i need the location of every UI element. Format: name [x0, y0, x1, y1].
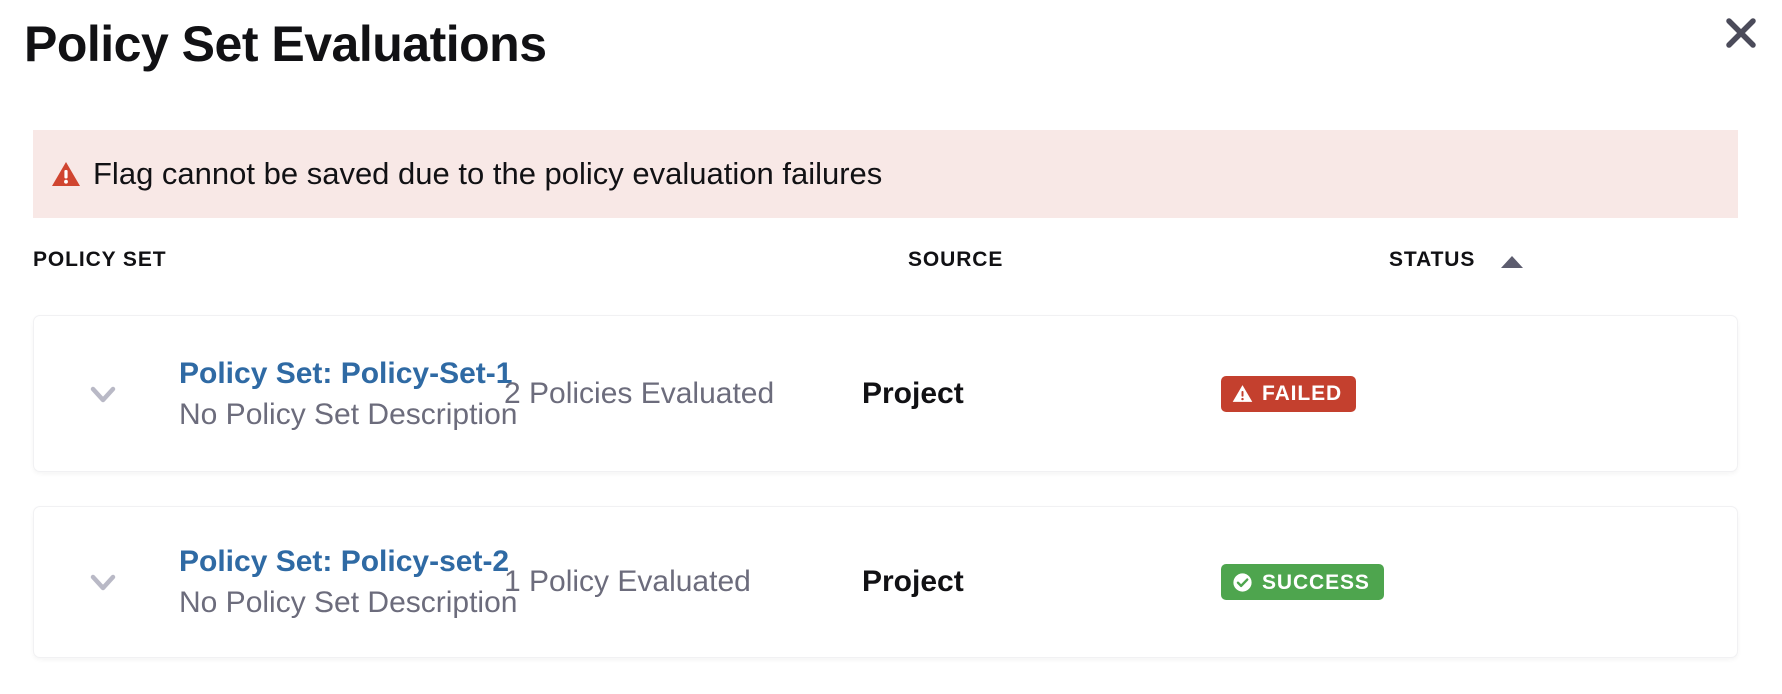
chevron-down-icon[interactable]: [80, 371, 126, 417]
alert-message: Flag cannot be saved due to the policy e…: [93, 157, 882, 191]
close-icon: [1722, 14, 1760, 52]
check-circle-icon: [1232, 572, 1253, 593]
policies-evaluated-count: 2 Policies Evaluated: [504, 374, 774, 414]
policy-set-description: No Policy Set Description: [179, 394, 509, 435]
status-badge: SUCCESS: [1221, 564, 1384, 600]
policy-set-description: No Policy Set Description: [179, 582, 509, 623]
sort-ascending-icon[interactable]: [1501, 256, 1523, 268]
policy-set-status: SUCCESS: [1221, 564, 1384, 600]
table-row[interactable]: Policy Set: Policy-set-2 No Policy Set D…: [33, 506, 1738, 658]
policy-set-link[interactable]: Policy Set: Policy-set-2: [179, 541, 509, 582]
policy-set-evaluations-dialog: Policy Set Evaluations Flag cannot be sa…: [0, 0, 1782, 694]
column-header-status[interactable]: STATUS: [1389, 248, 1475, 272]
policies-evaluated-count: 1 Policy Evaluated: [504, 562, 751, 602]
table-header-row: POLICY SET SOURCE STATUS: [0, 248, 1782, 294]
close-button[interactable]: [1718, 10, 1764, 56]
chevron-down-icon[interactable]: [80, 559, 126, 605]
policy-set-source: Project: [862, 562, 964, 602]
dialog-header: Policy Set Evaluations: [24, 12, 1758, 90]
status-badge-label: FAILED: [1262, 383, 1342, 404]
page-title: Policy Set Evaluations: [24, 12, 1758, 76]
policy-set-name-cell: Policy Set: Policy-Set-1 No Policy Set D…: [179, 353, 509, 435]
warning-triangle-icon: [51, 159, 81, 189]
policy-set-list: Policy Set: Policy-Set-1 No Policy Set D…: [33, 315, 1738, 692]
column-header-source[interactable]: SOURCE: [908, 248, 1003, 272]
policy-set-status: FAILED: [1221, 376, 1356, 412]
column-header-policy-set[interactable]: POLICY SET: [33, 248, 166, 272]
warning-triangle-icon: [1232, 383, 1253, 404]
status-badge-label: SUCCESS: [1262, 572, 1370, 593]
error-alert-banner: Flag cannot be saved due to the policy e…: [33, 130, 1738, 218]
policy-set-link[interactable]: Policy Set: Policy-Set-1: [179, 353, 509, 394]
table-row[interactable]: Policy Set: Policy-Set-1 No Policy Set D…: [33, 315, 1738, 472]
policy-set-name-cell: Policy Set: Policy-set-2 No Policy Set D…: [179, 541, 509, 623]
status-badge: FAILED: [1221, 376, 1356, 412]
policy-set-source: Project: [862, 374, 964, 414]
